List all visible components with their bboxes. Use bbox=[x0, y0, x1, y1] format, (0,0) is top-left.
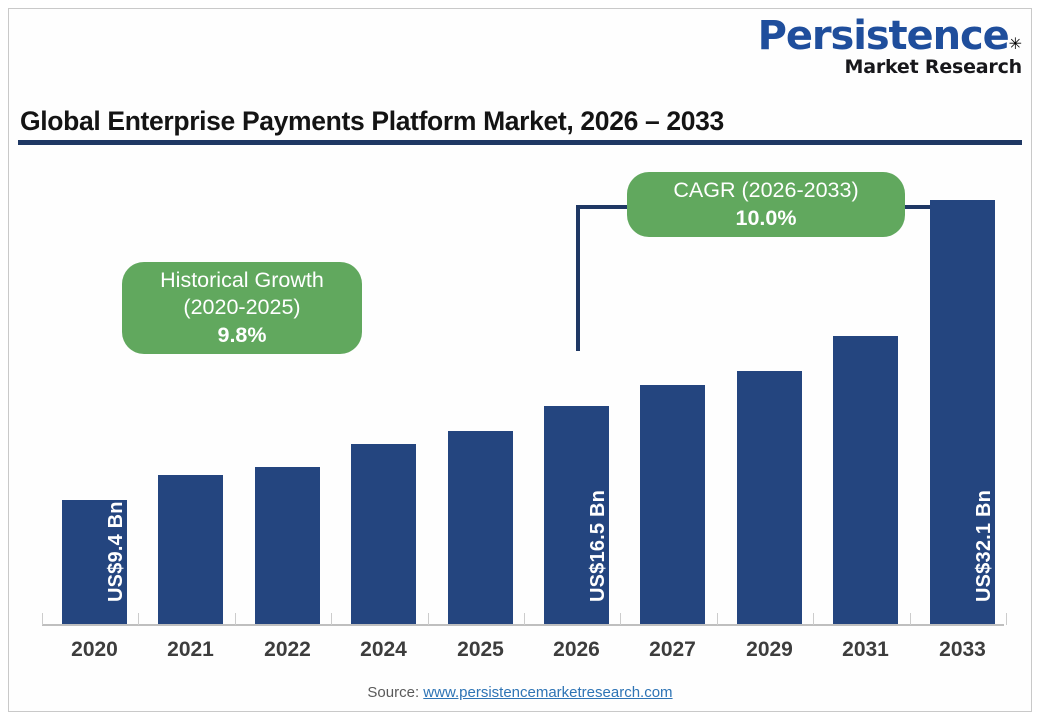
bar-2029 bbox=[737, 371, 802, 624]
bar-value-label-2020: US$9.4 Bn bbox=[105, 501, 128, 602]
x-axis-line bbox=[42, 624, 1004, 626]
cagr-value: 10.0% bbox=[736, 205, 797, 233]
axis-tick bbox=[620, 613, 621, 625]
x-axis-label-2027: 2027 bbox=[625, 638, 721, 662]
axis-tick bbox=[235, 613, 236, 625]
axis-tick bbox=[524, 613, 525, 625]
bar-2025 bbox=[448, 431, 513, 624]
historical-growth-line1: Historical Growth bbox=[160, 267, 324, 295]
axis-tick bbox=[42, 613, 43, 625]
source-link[interactable]: www.persistencemarketresearch.com bbox=[423, 684, 672, 701]
cagr-connector-left-segment bbox=[576, 205, 580, 351]
axis-tick bbox=[331, 613, 332, 625]
x-axis-label-2021: 2021 bbox=[143, 638, 239, 662]
x-axis-label-2022: 2022 bbox=[240, 638, 336, 662]
historical-growth-line2: (2020-2025) bbox=[183, 294, 300, 322]
bar-value-label-2026: US$16.5 Bn bbox=[587, 490, 610, 602]
x-axis-label-2033: 2033 bbox=[915, 638, 1011, 662]
axis-tick bbox=[138, 613, 139, 625]
x-axis-label-2029: 2029 bbox=[722, 638, 818, 662]
x-axis-label-2025: 2025 bbox=[433, 638, 529, 662]
source-note: Source: www.persistencemarketresearch.co… bbox=[0, 684, 1040, 701]
bar-value-label-2033: US$32.1 Bn bbox=[973, 490, 996, 602]
bar-2021 bbox=[158, 475, 223, 624]
bar-2024 bbox=[351, 444, 416, 624]
bar-2027 bbox=[640, 385, 705, 624]
axis-tick bbox=[910, 613, 911, 625]
bar-chart-plot-area: US$9.4 BnUS$16.5 BnUS$32.1 Bn 2020202120… bbox=[0, 0, 1040, 720]
bar-2031 bbox=[833, 336, 898, 624]
axis-tick bbox=[813, 613, 814, 625]
historical-growth-value: 9.8% bbox=[217, 322, 266, 350]
bar-2022 bbox=[255, 467, 320, 624]
historical-growth-callout: Historical Growth (2020-2025) 9.8% bbox=[122, 262, 362, 354]
axis-tick bbox=[428, 613, 429, 625]
chart-page: Persistence✳ Market Research Global Ente… bbox=[0, 0, 1040, 720]
x-axis-label-2031: 2031 bbox=[818, 638, 914, 662]
cagr-line1: CAGR (2026-2033) bbox=[673, 177, 858, 205]
axis-tick bbox=[717, 613, 718, 625]
x-axis-label-2024: 2024 bbox=[336, 638, 432, 662]
axis-tick bbox=[1006, 613, 1007, 625]
source-prefix: Source: bbox=[367, 684, 423, 701]
x-axis-label-2026: 2026 bbox=[529, 638, 625, 662]
cagr-callout: CAGR (2026-2033) 10.0% bbox=[627, 172, 905, 237]
x-axis-label-2020: 2020 bbox=[47, 638, 143, 662]
